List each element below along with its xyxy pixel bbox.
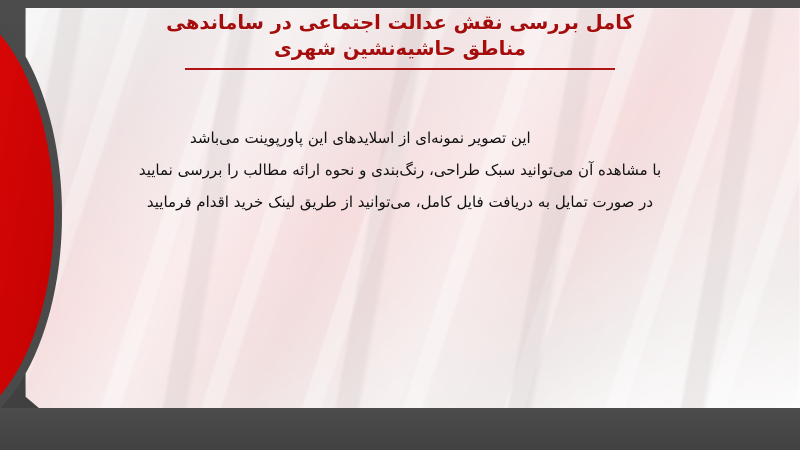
presentation-slide: کامل بررسی نقش عدالت اجتماعی در ساماندهی… (0, 0, 800, 450)
slide-title-line-2: مناطق حاشیه‌نشین شهری (120, 36, 680, 62)
slide-bottom-band (0, 408, 800, 450)
slide-body-line-2: با مشاهده آن می‌توانید سبک طراحی، رنگ‌بن… (110, 154, 690, 186)
slide-title-block: کامل بررسی نقش عدالت اجتماعی در ساماندهی… (120, 10, 680, 70)
slide-body-line-1: این تصویر نمونه‌ای از اسلایدهای این پاور… (110, 122, 690, 154)
slide-body-line-3: در صورت تمایل به دریافت فایل کامل، می‌تو… (110, 186, 690, 218)
slide-body-block: این تصویر نمونه‌ای از اسلایدهای این پاور… (110, 122, 690, 218)
title-underline-rule (185, 68, 615, 70)
slide-title-line-1: کامل بررسی نقش عدالت اجتماعی در ساماندهی (120, 10, 680, 36)
